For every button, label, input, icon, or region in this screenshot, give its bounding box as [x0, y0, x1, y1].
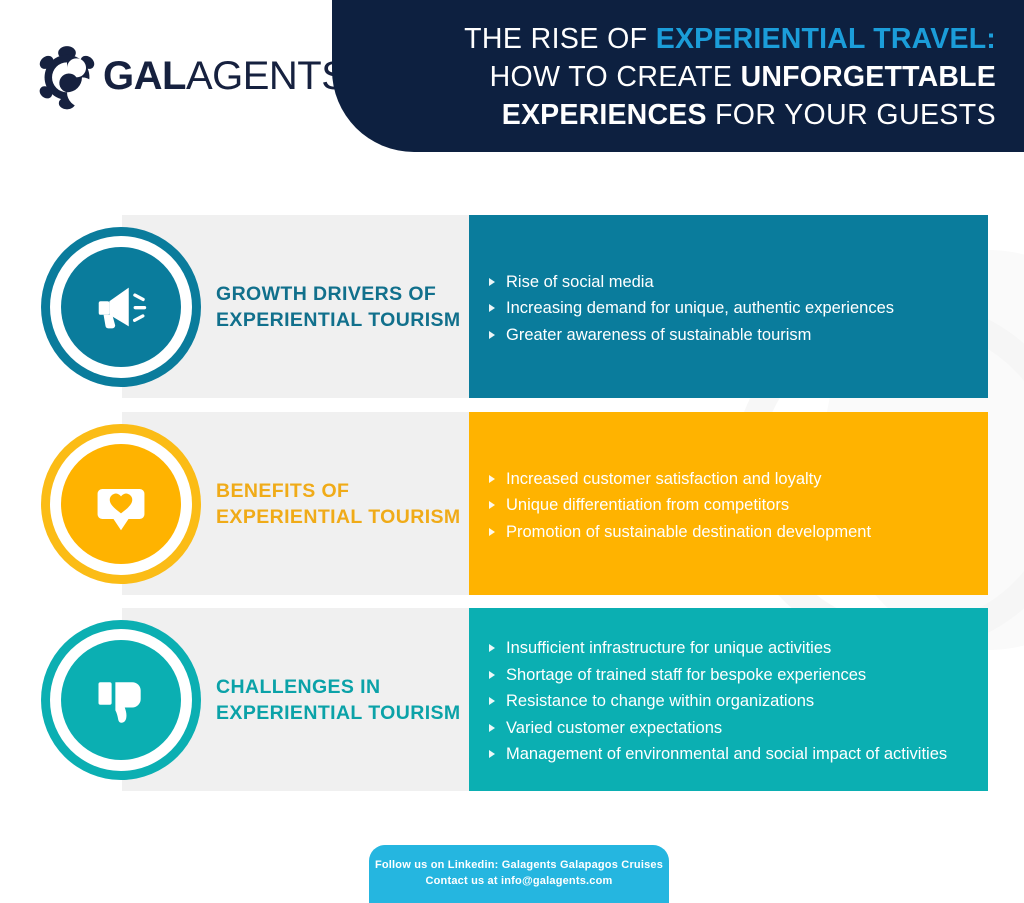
header-line-3-plain: FOR YOUR GUESTS	[707, 99, 996, 131]
brand-name-bold: GAL	[103, 54, 186, 98]
bullet-text: Increased customer satisfaction and loya…	[506, 470, 822, 488]
badge-core	[61, 640, 181, 760]
thumbs-down-icon	[91, 670, 151, 730]
bullet-triangle-icon	[489, 278, 495, 286]
bullet-item: Shortage of trained staff for bespoke ex…	[489, 662, 972, 689]
brand-name-light: AGENTS	[186, 54, 347, 98]
challenges-heading: CHALLENGES IN EXPERIENTIAL TOURISM	[216, 674, 466, 726]
bullet-item: Management of environmental and social i…	[489, 741, 972, 768]
turtle-spiral-icon	[33, 42, 101, 110]
bullet-text: Resistance to change within organization…	[506, 692, 814, 710]
bullet-item: Increased customer satisfaction and loya…	[489, 466, 972, 493]
header-line-1: THE RISE OF EXPERIENTIAL TRAVEL:	[464, 20, 996, 58]
bullet-text: Management of environmental and social i…	[506, 745, 947, 763]
bullet-text: Increasing demand for unique, authentic …	[506, 299, 894, 317]
section-growth-drivers: GROWTH DRIVERS OF EXPERIENTIAL TOURISM R…	[0, 215, 1024, 398]
challenges-panel: Insufficient infrastructure for unique a…	[469, 608, 988, 791]
bullet-item: Unique differentiation from competitors	[489, 492, 972, 519]
benefits-bullet-list: Increased customer satisfaction and loya…	[489, 466, 972, 546]
bullet-triangle-icon	[489, 528, 495, 536]
growth-drivers-panel: Rise of social mediaIncreasing demand fo…	[469, 215, 988, 398]
bullet-triangle-icon	[489, 697, 495, 705]
bullet-triangle-icon	[489, 750, 495, 758]
header-line-2-plain: HOW TO CREATE	[490, 61, 741, 93]
footer-linkedin-handle[interactable]: Galagents Galapagos Cruises	[502, 859, 663, 871]
bullet-item: Insufficient infrastructure for unique a…	[489, 635, 972, 662]
header-line-3: EXPERIENCES FOR YOUR GUESTS	[502, 96, 996, 134]
benefits-panel: Increased customer satisfaction and loya…	[469, 412, 988, 595]
footer-email-label: Contact us at	[425, 875, 501, 887]
benefits-heading: BENEFITS OF EXPERIENTIAL TOURISM	[216, 478, 466, 530]
header-line-1-plain: THE RISE OF	[464, 23, 656, 55]
header-line-2-bold: UNFORGETTABLE	[741, 61, 996, 93]
header-line-3-bold: EXPERIENCES	[502, 99, 707, 131]
brand-name: GALAGENTS	[103, 56, 347, 96]
infographic-page: GALAGENTS THE RISE OF EXPERIENTIAL TRAVE…	[0, 0, 1024, 903]
bullet-text: Unique differentiation from competitors	[506, 496, 789, 514]
bullet-text: Shortage of trained staff for bespoke ex…	[506, 666, 866, 684]
bullet-triangle-icon	[489, 724, 495, 732]
header-line-2: HOW TO CREATE UNFORGETTABLE	[490, 58, 996, 96]
bullet-triangle-icon	[489, 671, 495, 679]
bullet-item: Promotion of sustainable destination dev…	[489, 519, 972, 546]
header-banner: THE RISE OF EXPERIENTIAL TRAVEL: HOW TO …	[332, 0, 1024, 152]
bullet-text: Varied customer expectations	[506, 719, 722, 737]
bullet-triangle-icon	[489, 304, 495, 312]
challenges-bullet-list: Insufficient infrastructure for unique a…	[489, 635, 972, 768]
bullet-item: Varied customer expectations	[489, 715, 972, 742]
footer-contact-card: Follow us on Linkedin: Galagents Galapag…	[369, 845, 669, 903]
bullet-text: Promotion of sustainable destination dev…	[506, 523, 871, 541]
brand-logo: GALAGENTS	[33, 42, 347, 110]
megaphone-icon	[90, 276, 152, 338]
growth-drivers-bullet-list: Rise of social mediaIncreasing demand fo…	[489, 269, 972, 349]
footer-linkedin-label: Follow us on Linkedin:	[375, 859, 502, 871]
bullet-triangle-icon	[489, 475, 495, 483]
badge-core	[61, 247, 181, 367]
footer-email-line: Contact us at info@galagents.com	[369, 873, 669, 889]
bullet-text: Insufficient infrastructure for unique a…	[506, 639, 831, 657]
benefits-badge	[41, 424, 201, 584]
challenges-badge	[41, 620, 201, 780]
footer-linkedin-line: Follow us on Linkedin: Galagents Galapag…	[369, 857, 669, 873]
bullet-item: Increasing demand for unique, authentic …	[489, 295, 972, 322]
footer-email-address[interactable]: info@galagents.com	[501, 875, 613, 887]
growth-drivers-heading: GROWTH DRIVERS OF EXPERIENTIAL TOURISM	[216, 281, 466, 333]
bullet-item: Resistance to change within organization…	[489, 688, 972, 715]
bullet-triangle-icon	[489, 331, 495, 339]
bullet-triangle-icon	[489, 644, 495, 652]
bullet-triangle-icon	[489, 501, 495, 509]
bullet-text: Rise of social media	[506, 273, 654, 291]
growth-drivers-badge	[41, 227, 201, 387]
bullet-item: Greater awareness of sustainable tourism	[489, 322, 972, 349]
section-benefits: BENEFITS OF EXPERIENTIAL TOURISM Increas…	[0, 412, 1024, 595]
speech-bubble-heart-icon	[91, 474, 151, 534]
bullet-text: Greater awareness of sustainable tourism	[506, 326, 811, 344]
header-line-1-accent: EXPERIENTIAL TRAVEL:	[656, 23, 996, 55]
badge-core	[61, 444, 181, 564]
bullet-item: Rise of social media	[489, 269, 972, 296]
section-challenges: CHALLENGES IN EXPERIENTIAL TOURISM Insuf…	[0, 608, 1024, 791]
